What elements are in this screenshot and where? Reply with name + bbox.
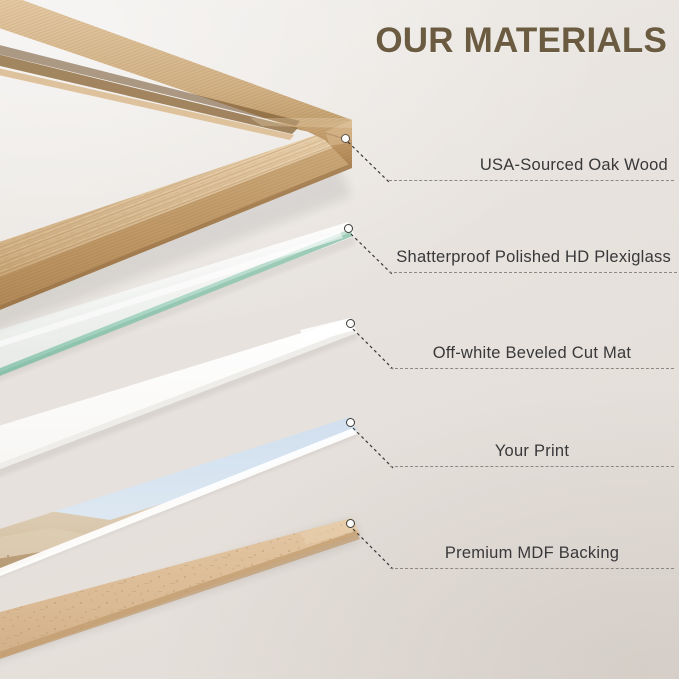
marker-dot-plexiglass[interactable] bbox=[344, 224, 353, 233]
marker-dot-mat[interactable] bbox=[346, 319, 355, 328]
materials-infographic: OUR MATERIALS USA-Sourced Oak Wood Shatt… bbox=[0, 0, 679, 679]
callout-rule-plexiglass: Shatterproof Polished HD Plexiglass bbox=[389, 272, 677, 273]
page-title: OUR MATERIALS bbox=[367, 20, 667, 62]
leader-line-mat bbox=[346, 317, 406, 379]
leader-line-mdf-backing bbox=[346, 517, 406, 579]
callout-rule-mat: Off-white Beveled Cut Mat bbox=[390, 368, 674, 369]
callout-label-mat: Off-white Beveled Cut Mat bbox=[433, 344, 632, 363]
callout-label-plexiglass: Shatterproof Polished HD Plexiglass bbox=[396, 248, 671, 267]
marker-dot-mdf-backing[interactable] bbox=[346, 519, 355, 528]
callout-label-mdf-backing: Premium MDF Backing bbox=[445, 544, 619, 563]
callout-label-print: Your Print bbox=[495, 442, 569, 461]
callout-rule-oak-wood: USA-Sourced Oak Wood bbox=[389, 180, 674, 181]
leader-line-plexiglass bbox=[344, 222, 404, 284]
exploded-frame-illustration bbox=[0, 0, 679, 679]
callout-rule-print: Your Print bbox=[390, 466, 674, 467]
callout-label-oak-wood: USA-Sourced Oak Wood bbox=[480, 156, 668, 175]
callout-rule-mdf-backing: Premium MDF Backing bbox=[390, 568, 674, 569]
leader-line-print bbox=[346, 416, 406, 478]
marker-dot-print[interactable] bbox=[346, 418, 355, 427]
marker-dot-oak-wood[interactable] bbox=[341, 134, 350, 143]
